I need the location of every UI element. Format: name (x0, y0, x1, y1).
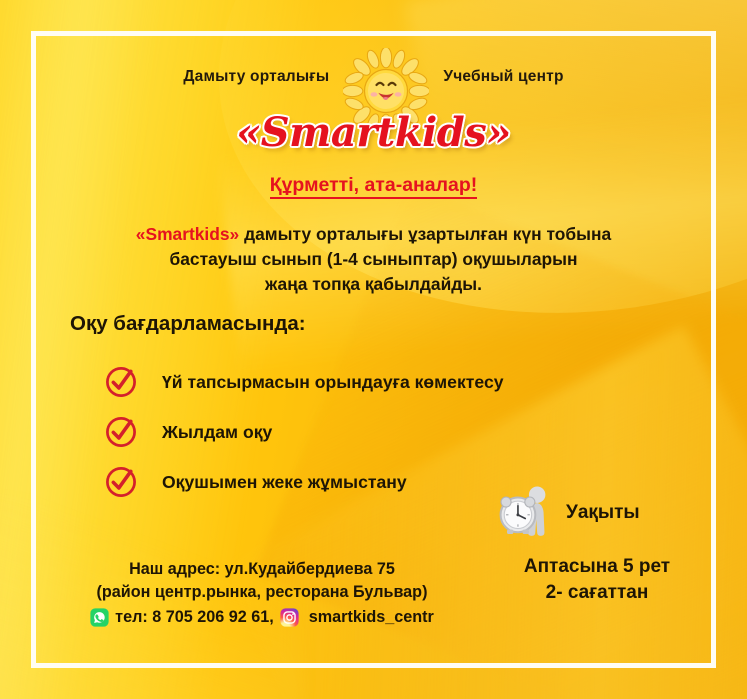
schedule-block: Уақыты Аптасына 5 рет 2- сағаттан (496, 484, 726, 605)
brand-title: «Smartkids» (0, 113, 747, 153)
header-label-russian: Учебный центр (443, 54, 563, 86)
poster-canvas: Дамыту орталығы (0, 0, 747, 699)
list-item-label: Оқушымен жеке жұмыстану (162, 472, 407, 493)
schedule-line-2: 2- сағаттан (496, 580, 698, 606)
salutation: Құрметті, ата-аналар! (0, 174, 747, 197)
phone-number[interactable]: тел: 8 705 206 92 61, (115, 606, 274, 629)
intro-paragraph: «Smartkids» дамыту орталығы ұзартылған к… (60, 222, 687, 298)
header-label-kazakh: Дамыту орталығы (183, 54, 329, 86)
contact-row: тел: 8 705 206 92 61, (52, 606, 472, 629)
clock-person-icon (496, 484, 560, 542)
address-line-2: (район центр.рынка, ресторана Бульвар) (52, 581, 472, 604)
intro-brand-accent: «Smartkids» (136, 224, 239, 244)
intro-line-2: бастауыш сынып (1-4 сыныптар) оқушыларын (170, 249, 578, 269)
salutation-text: Құрметті, ата-аналар! (270, 174, 478, 199)
check-circle-icon (104, 365, 138, 399)
instagram-icon[interactable] (280, 608, 299, 627)
list-item: Жылдам оқу (104, 407, 687, 457)
instagram-handle[interactable]: smartkids_centr (309, 606, 434, 629)
check-circle-icon (104, 415, 138, 449)
schedule-line-1: Аптасына 5 рет (496, 554, 698, 580)
list-item-label: Үй тапсырмасын орындауға көмектесу (162, 372, 504, 393)
whatsapp-icon[interactable] (90, 608, 109, 627)
address-line-1: Наш адрес: ул.Кудайбердиева 75 (52, 558, 472, 581)
schedule-title: Уақыты (566, 502, 640, 524)
list-item: Үй тапсырмасын орындауға көмектесу (104, 357, 687, 407)
list-item-label: Жылдам оқу (162, 422, 272, 443)
program-heading: Оқу бағдарламасында: (70, 312, 306, 336)
intro-line-1-rest: дамыту орталығы ұзартылған күн тобына (239, 224, 611, 244)
address-block: Наш адрес: ул.Кудайбердиева 75 (район це… (52, 558, 472, 629)
check-circle-icon (104, 465, 138, 499)
intro-line-3: жаңа топқа қабылдайды. (265, 274, 482, 294)
